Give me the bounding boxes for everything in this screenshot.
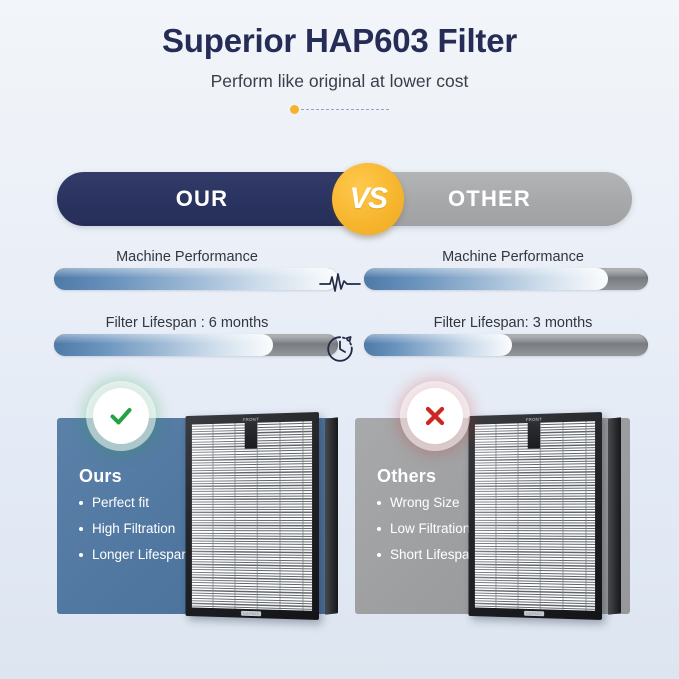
progress-bar-fill [54, 334, 273, 356]
filter-side-edge [325, 417, 338, 615]
banner-our-side: OUR [57, 172, 347, 226]
filter-pleated-media [192, 421, 312, 611]
divider-dashed-line [301, 109, 389, 110]
page-subtitle: Perform like original at lower cost [0, 71, 679, 92]
filter-frame: FRONT HAP603 [468, 412, 602, 620]
versus-banner: OUR OTHER VS [57, 172, 632, 226]
cross-badge-icon [407, 388, 463, 444]
filter-pleated-media [475, 421, 595, 611]
filter-front-label: FRONT [243, 416, 259, 421]
metric-label: Machine Performance [54, 246, 338, 268]
heartbeat-icon [318, 270, 362, 296]
clock-history-icon [318, 336, 362, 362]
product-image-ours-filter: FRONT HAP603 [179, 412, 327, 622]
product-comparison-poster: Superior HAP603 Filter Perform like orig… [0, 0, 679, 679]
panel-others: Others Wrong Size Low Filtration Short L… [355, 418, 630, 614]
progress-bar-fill [364, 334, 512, 356]
metric-label: Filter Lifespan: 3 months [364, 312, 648, 334]
metric-row-filter-lifespan: Filter Lifespan : 6 months Filter Lifesp… [0, 312, 679, 378]
filter-model-label: HAP603 [241, 610, 261, 615]
metrics-section: Machine Performance Machine Performance [0, 246, 679, 378]
product-image-others-filter: FRONT HAP603 [462, 412, 610, 622]
progress-bar-our-performance [54, 268, 338, 290]
filter-front-label: FRONT [526, 416, 542, 421]
page-title: Superior HAP603 Filter [0, 22, 679, 60]
progress-bar-fill [364, 268, 608, 290]
metric-label: Filter Lifespan : 6 months [54, 312, 338, 334]
check-badge-icon [93, 388, 149, 444]
header: Superior HAP603 Filter Perform like orig… [0, 22, 679, 116]
metric-our-machine-performance: Machine Performance [54, 246, 338, 290]
filter-model-label: HAP603 [524, 610, 544, 615]
metric-label: Machine Performance [364, 246, 648, 268]
filter-handle-tab [528, 423, 540, 449]
progress-bar-other-lifespan [364, 334, 648, 356]
filter-frame: FRONT HAP603 [185, 412, 319, 620]
banner-other-label: OTHER [448, 186, 531, 212]
progress-bar-other-performance [364, 268, 648, 290]
metric-row-machine-performance: Machine Performance Machine Performance [0, 246, 679, 312]
metric-other-machine-performance: Machine Performance [364, 246, 648, 290]
progress-bar-our-lifespan [54, 334, 338, 356]
progress-bar-fill [54, 268, 338, 290]
banner-our-label: OUR [176, 186, 229, 212]
vs-badge-icon: VS [332, 163, 404, 235]
vs-label: VS [349, 182, 386, 216]
decorative-divider [0, 104, 679, 116]
divider-dot-icon [290, 105, 299, 114]
filter-handle-tab [245, 423, 257, 449]
metric-other-filter-lifespan: Filter Lifespan: 3 months [364, 312, 648, 356]
metric-our-filter-lifespan: Filter Lifespan : 6 months [54, 312, 338, 356]
panel-ours: Ours Perfect fit High Filtration Longer … [57, 418, 332, 614]
filter-side-edge [608, 417, 621, 615]
comparison-panels: Ours Perfect fit High Filtration Longer … [0, 418, 679, 648]
